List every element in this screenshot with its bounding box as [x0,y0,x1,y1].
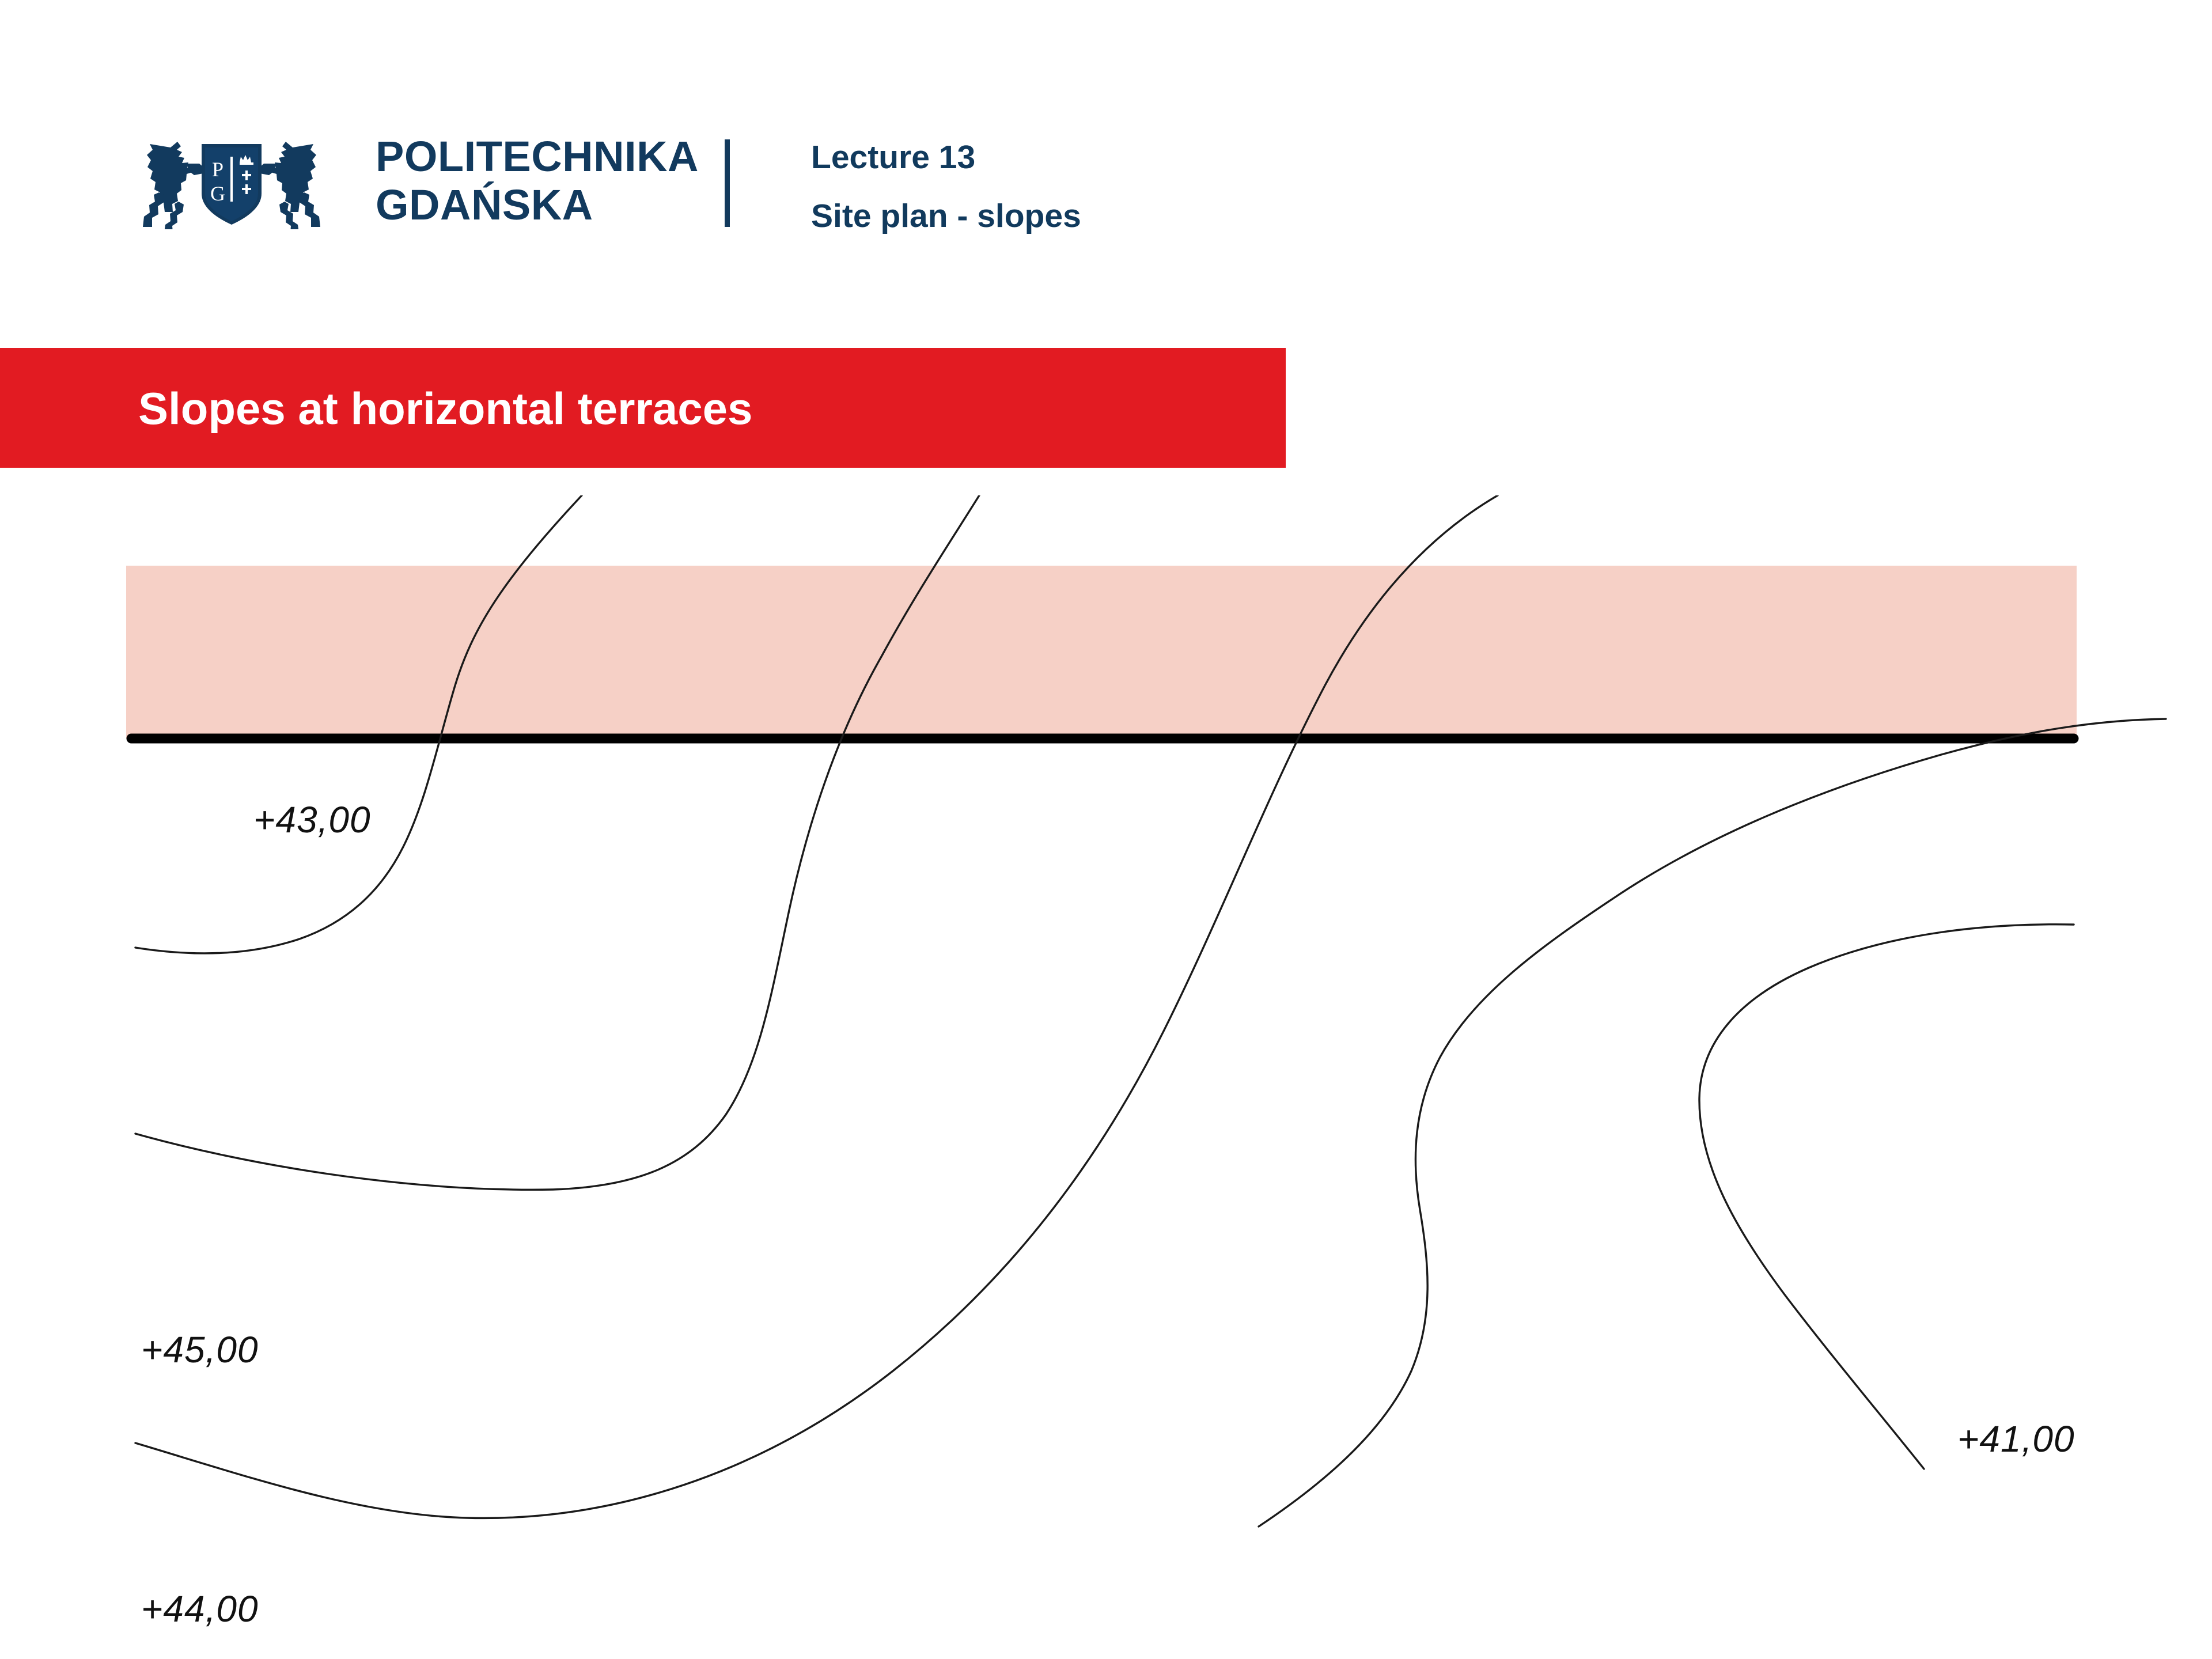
svg-text:P: P [212,158,224,181]
politechnika-gdanska-crest-logo: P G [134,128,329,229]
section-banner: Slopes at horizontal terraces [0,348,1286,468]
site-plan-drawing: +43,00 +45,00 +44,00 +43,00 +41,00 +42,0… [0,495,2212,1659]
institution-wordmark: POLITECHNIKA GDAŃSKA [376,132,698,229]
lecture-number: Lecture 13 [811,139,1733,175]
contour-line-41 [1699,925,2074,1469]
header-vertical-divider [725,139,730,227]
elevation-label-45: +45,00 [141,1329,259,1370]
institution-line-1: POLITECHNIKA [376,132,698,181]
contour-map-svg: +43,00 +45,00 +44,00 +43,00 +41,00 +42,0… [0,495,2212,1659]
terrace-area [126,566,2077,738]
section-title: Slopes at horizontal terraces [138,377,752,440]
elevation-label-41-right: +41,00 [1957,1418,2075,1460]
slide-header: P G POLITECHNIKA GDAŃSKA Lecture 13 Site… [0,0,2212,323]
elevation-label-terrace-43: +43,00 [253,799,371,840]
elevation-label-44: +44,00 [141,1588,259,1630]
header-title-block: Lecture 13 Site plan - slopes [811,139,1733,234]
lecture-subject: Site plan - slopes [811,198,1733,234]
institution-line-2: GDAŃSKA [376,181,698,229]
svg-text:G: G [210,182,225,205]
contour-line-42 [1259,719,2166,1527]
crest-icon: P G [134,128,329,229]
